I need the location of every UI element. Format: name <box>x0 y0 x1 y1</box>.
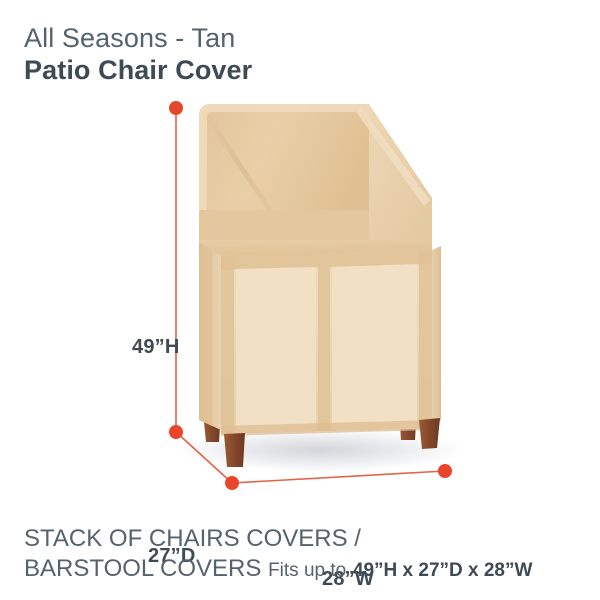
product-subtitle: All Seasons - Tan <box>24 22 444 54</box>
dimension-dot-corner-front <box>225 476 239 490</box>
leg-front-right <box>419 418 440 449</box>
front-seam-center <box>318 267 330 431</box>
front-panel-left <box>236 267 316 433</box>
category-line-2-text: BARSTOOL COVERS <box>24 555 268 582</box>
side-panel-left-seam <box>204 246 212 426</box>
dimension-dot-top <box>169 101 183 115</box>
front-seam-left <box>221 256 234 434</box>
dimension-dot-corner-back <box>169 425 183 439</box>
chair-seat-band <box>199 210 369 242</box>
leg-front-left <box>224 433 245 467</box>
front-panel-right <box>332 264 417 431</box>
footer-caption: STACK OF CHAIRS COVERS / BARSTOOL COVERS… <box>24 524 590 586</box>
dimension-line-width <box>232 471 445 483</box>
product-dimension-sheet: All Seasons - Tan Patio Chair Cover <box>0 0 600 600</box>
chair-cover-drawing <box>0 90 600 510</box>
product-title: Patio Chair Cover <box>24 54 444 87</box>
dimension-dot-corner-right <box>438 464 452 478</box>
category-line-2: BARSTOOL COVERS Fits up to 49”H x 27”D x… <box>24 554 590 586</box>
category-line-1: STACK OF CHAIRS COVERS / <box>24 524 590 554</box>
fits-dimensions: 49”H x 27”D x 28”W <box>353 560 533 581</box>
side-panel-right <box>432 246 441 428</box>
header: All Seasons - Tan Patio Chair Cover <box>24 22 444 87</box>
front-seam-right <box>419 250 432 429</box>
dimension-label-height: 49”H <box>132 336 180 359</box>
product-illustration: 49”H 27”D 28”W <box>0 90 600 510</box>
fits-prefix: Fits up to <box>268 560 346 581</box>
